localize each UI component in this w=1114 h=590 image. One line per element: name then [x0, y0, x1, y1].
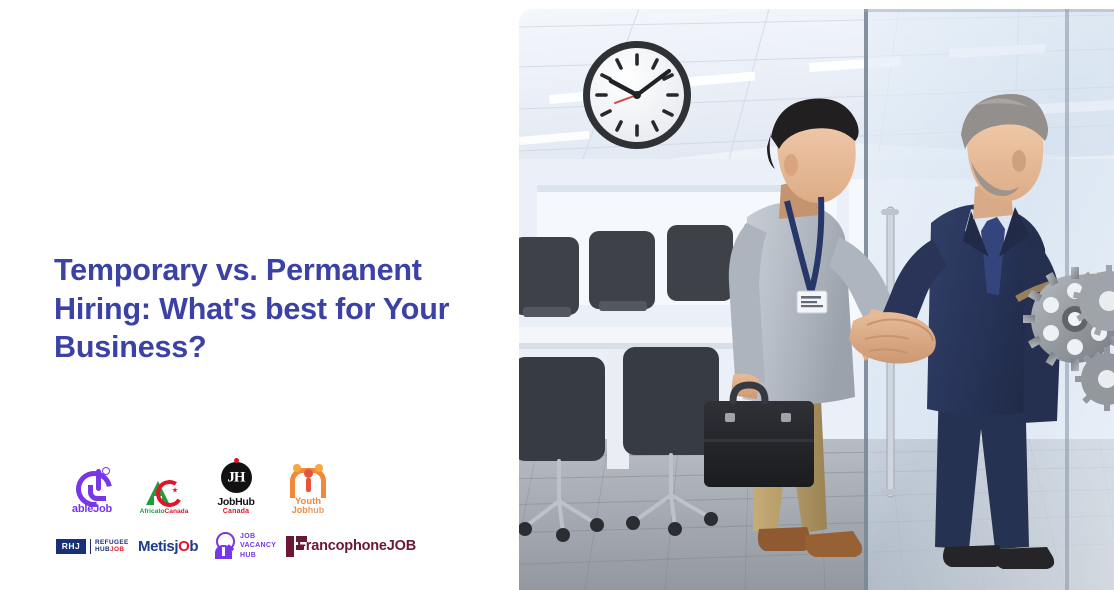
partner-logo-wall: ableJob AfricatoCanada JH Job: [56, 455, 426, 569]
logo-jobhub-canada[interactable]: JH JobHub Canada: [200, 462, 272, 515]
refugee-hub-badge-icon: RHJ: [56, 539, 86, 554]
jobhub-monogram-text: JH: [227, 469, 244, 486]
africatocanada-mark-icon: [144, 479, 184, 505]
ablejob-monogram-icon: [76, 467, 109, 500]
logo-africatocanada[interactable]: AfricatoCanada: [128, 479, 200, 515]
logo-refugee-hub-job[interactable]: RHJ REFUGEE HUBJOB: [56, 539, 138, 554]
francophonejob-wordmark: FrancophoneJOB: [297, 538, 416, 554]
francophonejob-mark-icon: [286, 536, 291, 557]
logo-youth-jobhub[interactable]: Youth Jobhub: [272, 464, 344, 515]
job-vacancy-hub-wordmark: JOB VACANCY HUB: [240, 532, 276, 561]
youth-jobhub-people-icon: [290, 464, 326, 494]
logo-row-2: RHJ REFUGEE HUBJOB MetisjOb: [56, 523, 426, 569]
office-handshake-illustration: [519, 9, 1114, 590]
metisjob-wordmark: MetisjOb: [138, 538, 214, 555]
jobhub-wordmark: JobHub: [217, 496, 254, 508]
africatocanada-wordmark: AfricatoCanada: [140, 508, 189, 515]
jobhub-monogram-icon: JH: [221, 462, 252, 493]
youth-jobhub-line2: Jobhub: [292, 505, 325, 515]
refugee-hub-wordmark: REFUGEE HUBJOB: [90, 539, 129, 554]
logo-row-1: ableJob AfricatoCanada JH Job: [56, 455, 426, 515]
logo-metisjob[interactable]: MetisjOb: [138, 538, 214, 555]
hero-banner: Temporary vs. Permanent Hiring: What's b…: [0, 0, 1114, 590]
hero-photo: [519, 9, 1114, 590]
jobhub-subtext: Canada: [223, 508, 250, 515]
left-content-panel: Temporary vs. Permanent Hiring: What's b…: [0, 0, 519, 590]
logo-francophonejob[interactable]: FrancophoneJOB: [286, 536, 416, 557]
logo-ablejob[interactable]: ableJob: [56, 467, 128, 515]
page-title: Temporary vs. Permanent Hiring: What's b…: [54, 251, 484, 367]
job-vacancy-hub-person-search-icon: [214, 532, 236, 560]
logo-job-vacancy-hub[interactable]: JOB VACANCY HUB: [214, 532, 286, 561]
